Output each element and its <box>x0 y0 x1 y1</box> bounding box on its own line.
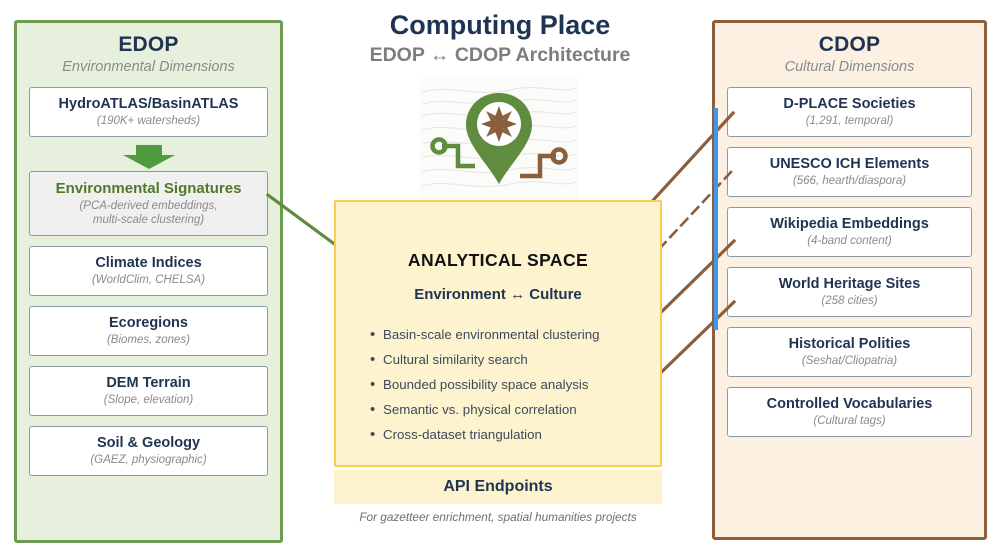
analytical-space-box: ANALYTICAL SPACE Environment ↔ Culture B… <box>334 200 662 467</box>
analytical-space-bullet: Cultural similarity search <box>370 352 660 368</box>
cdop-blue-rail-indicator <box>714 108 718 330</box>
analytical-space-title: ANALYTICAL SPACE <box>336 250 660 271</box>
analytical-space-subtitle: Environment ↔ Culture <box>336 286 660 303</box>
analytical-space-bullet: Bounded possibility space analysis <box>370 377 660 393</box>
analytical-space-bullet: Cross-dataset triangulation <box>370 427 660 443</box>
connector-dplace-to-analytical <box>646 113 733 208</box>
analytical-space-bullet: Basin-scale environmental clustering <box>370 327 660 343</box>
api-endpoints-title: API Endpoints <box>334 470 662 504</box>
analytical-space-bullet-list: Basin-scale environmental clusteringCult… <box>370 327 660 443</box>
api-endpoints-band: API Endpoints <box>334 470 662 504</box>
diagram-canvas: EDOP Environmental Dimensions HydroATLAS… <box>0 0 1000 548</box>
analytical-space-bullet: Semantic vs. physical correlation <box>370 402 660 418</box>
